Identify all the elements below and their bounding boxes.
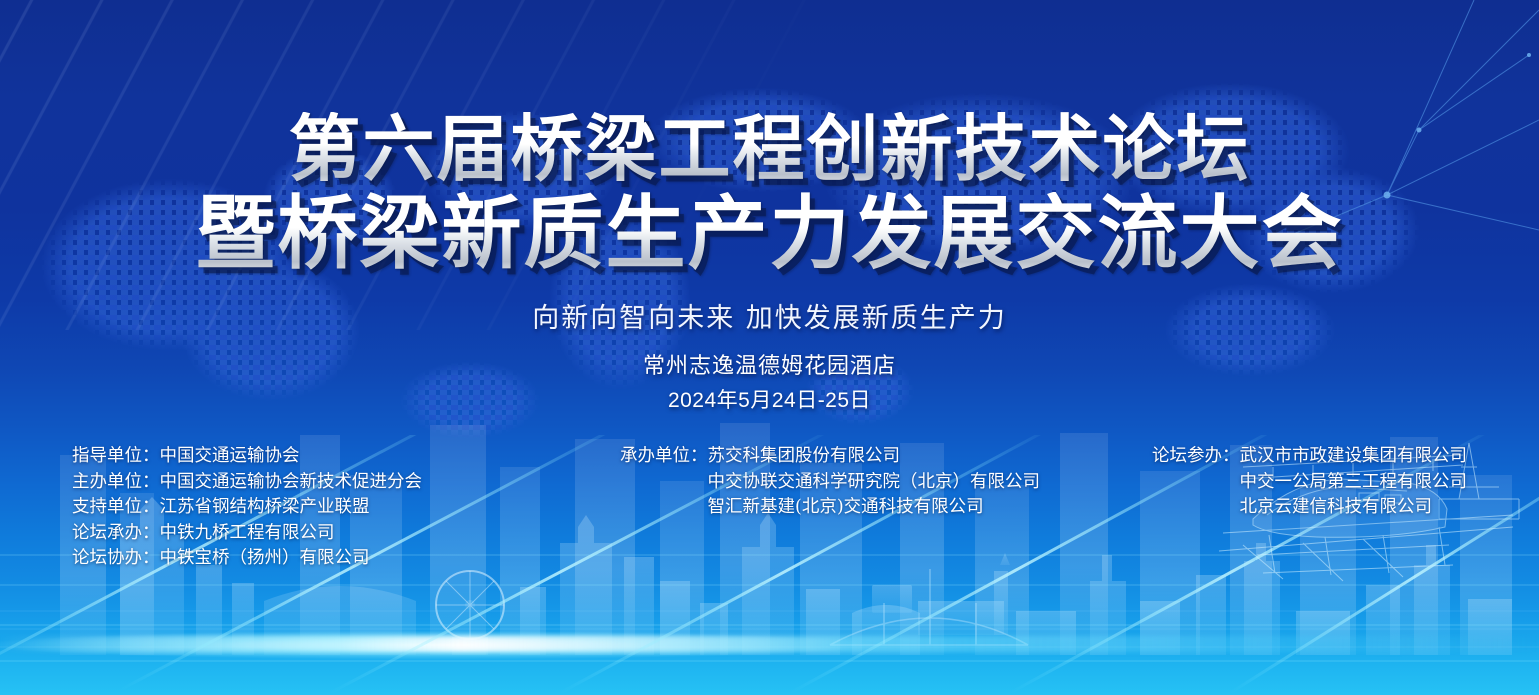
organization-value: 江苏省钢结构桥梁产业联盟: [160, 495, 370, 521]
organization-value: 中交协联交通科学研究院（北京）有限公司: [708, 470, 1041, 496]
organization-label: 指导单位：: [72, 444, 160, 470]
organization-label: 主办单位：: [72, 470, 160, 496]
organizations-block: 指导单位： 中国交通运输协会 主办单位： 中国交通运输协会新技术促进分会 支持单…: [0, 444, 1539, 574]
organization-label: 论坛承办：: [72, 521, 160, 547]
organization-label: 论坛协办：: [72, 546, 160, 572]
organization-row: 论坛参办： 北京云建信科技有限公司: [1152, 495, 1467, 521]
organization-value: 北京云建信科技有限公司: [1240, 495, 1433, 521]
organization-value: 中铁宝桥（扬州）有限公司: [160, 546, 370, 572]
conference-banner: 第六届桥梁工程创新技术论坛 暨桥梁新质生产力发展交流大会 向新向智向未来 加快发…: [0, 0, 1539, 695]
subtitle: 向新向智向未来 加快发展新质生产力: [0, 296, 1539, 335]
organization-value: 中国交通运输协会: [160, 444, 300, 470]
banner-content: 第六届桥梁工程创新技术论坛 暨桥梁新质生产力发展交流大会 向新向智向未来 加快发…: [0, 0, 1539, 695]
venue-block: 常州志逸温德姆花园酒店 2024年5月24日-25日: [0, 352, 1539, 414]
organization-row: 承办单位： 中交协联交通科学研究院（北京）有限公司: [620, 470, 1040, 496]
organization-row: 论坛协办： 中铁宝桥（扬州）有限公司: [72, 546, 422, 572]
organization-value: 中铁九桥工程有限公司: [160, 521, 335, 547]
organization-row: 支持单位： 江苏省钢结构桥梁产业联盟: [72, 495, 422, 521]
page-title-line-1: 第六届桥梁工程创新技术论坛: [0, 112, 1539, 188]
organization-value: 智汇新基建(北京)交通科技有限公司: [708, 495, 984, 521]
organization-value: 苏交科集团股份有限公司: [708, 444, 901, 470]
organization-row: 论坛参办： 武汉市市政建设集团有限公司: [1152, 444, 1467, 470]
title-block: 第六届桥梁工程创新技术论坛 暨桥梁新质生产力发展交流大会: [0, 112, 1539, 277]
page-title-line-2: 暨桥梁新质生产力发展交流大会: [0, 192, 1539, 277]
venue-name: 常州志逸温德姆花园酒店: [0, 352, 1539, 382]
organization-value: 中国交通运输协会新技术促进分会: [160, 470, 423, 496]
organization-label: 论坛参办：: [1152, 444, 1240, 470]
organization-row: 主办单位： 中国交通运输协会新技术促进分会: [72, 470, 422, 496]
event-date: 2024年5月24日-25日: [0, 384, 1539, 414]
organizations-column-middle: 承办单位： 苏交科集团股份有限公司 承办单位： 中交协联交通科学研究院（北京）有…: [620, 444, 1040, 521]
organization-label: 支持单位：: [72, 495, 160, 521]
organization-row: 论坛承办： 中铁九桥工程有限公司: [72, 521, 422, 547]
organization-row: 承办单位： 智汇新基建(北京)交通科技有限公司: [620, 495, 1040, 521]
organizations-column-left: 指导单位： 中国交通运输协会 主办单位： 中国交通运输协会新技术促进分会 支持单…: [72, 444, 422, 572]
organization-label: 承办单位：: [620, 444, 708, 470]
organization-value: 武汉市市政建设集团有限公司: [1240, 444, 1468, 470]
organization-value: 中交一公局第三工程有限公司: [1240, 470, 1468, 496]
organization-row: 指导单位： 中国交通运输协会: [72, 444, 422, 470]
organization-row: 论坛参办： 中交一公局第三工程有限公司: [1152, 470, 1467, 496]
organizations-column-right: 论坛参办： 武汉市市政建设集团有限公司 论坛参办： 中交一公局第三工程有限公司 …: [1152, 444, 1467, 521]
organization-row: 承办单位： 苏交科集团股份有限公司: [620, 444, 1040, 470]
